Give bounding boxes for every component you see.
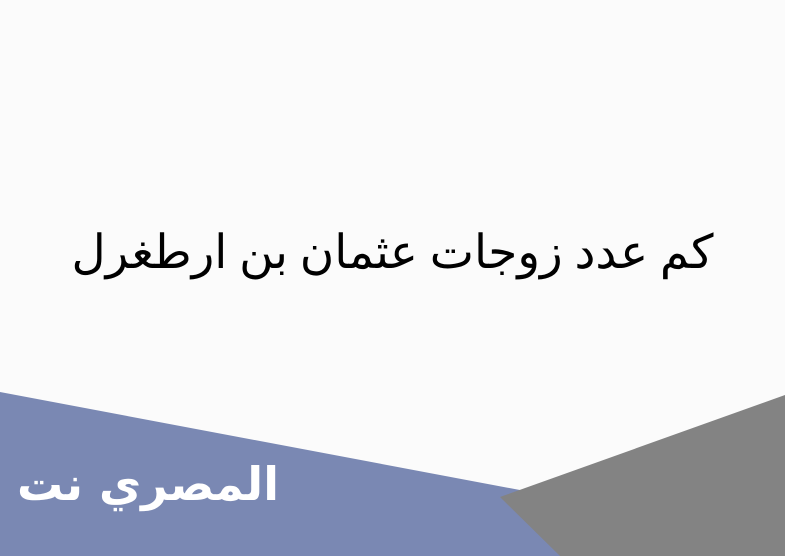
image-canvas: كم عدد زوجات عثمان بن ارطغرل المصري نت [0,0,785,556]
grey-triangle-shape [500,395,785,556]
site-watermark-logo: المصري نت [17,461,279,507]
page-title: كم عدد زوجات عثمان بن ارطغرل [60,218,725,289]
